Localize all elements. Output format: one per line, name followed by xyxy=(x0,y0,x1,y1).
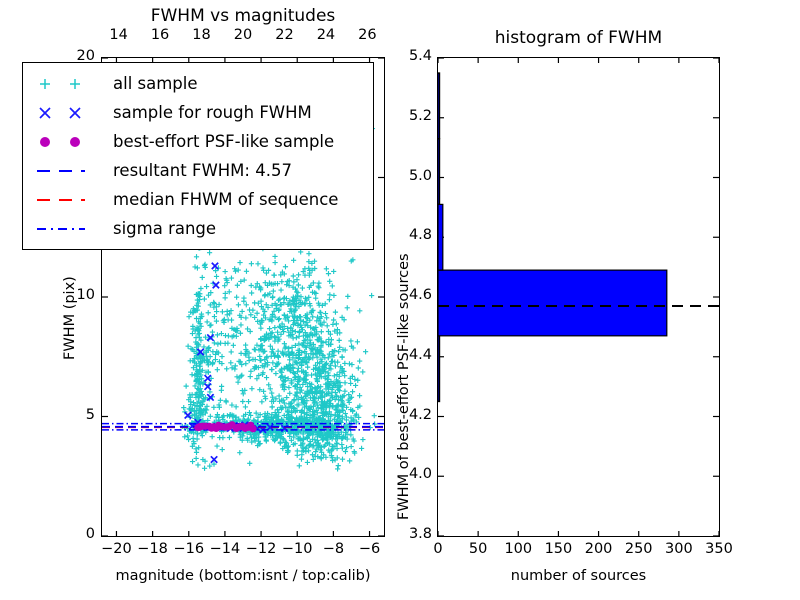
axis-tick-label: 4.2 xyxy=(396,407,432,423)
axis-tick-label: 4.8 xyxy=(396,227,432,243)
axis-tick-label: 5 xyxy=(62,407,95,423)
legend-label: resultant FWHM: 4.57 xyxy=(113,161,292,180)
axis-tick-label: −6 xyxy=(353,541,387,557)
right-panel-title: histogram of FWHM xyxy=(437,28,720,48)
left-panel-title: FWHM vs magnitudes xyxy=(101,6,385,26)
histogram-bar xyxy=(438,336,440,402)
axis-tick-label: −8 xyxy=(316,541,350,557)
legend-label: sigma range xyxy=(113,219,216,238)
legend-marker-dashed-icon xyxy=(29,159,113,183)
legend-marker-dashdot-icon xyxy=(29,217,113,241)
left-panel-xlabel: magnitude (bottom:isnt / top:calib) xyxy=(101,568,385,584)
legend-item: sigma range xyxy=(23,214,373,243)
axis-tick-label: 5.2 xyxy=(396,108,432,124)
histogram-bar xyxy=(438,73,440,139)
histogram-axes xyxy=(437,57,720,537)
axis-tick-label: 4.0 xyxy=(396,466,432,482)
axis-tick-label: 4.4 xyxy=(396,347,432,363)
axis-tick-label: 5.0 xyxy=(396,168,432,184)
legend-marker-cross-icon xyxy=(29,101,113,125)
histogram-svg xyxy=(438,58,719,536)
legend-label: median FHWM of sequence xyxy=(113,190,338,209)
legend-item: all sample xyxy=(23,69,373,98)
axis-tick-label: 4.6 xyxy=(396,287,432,303)
legend-marker-dot-icon xyxy=(29,130,113,154)
legend-marker-dashed-icon xyxy=(29,188,113,212)
histogram-bar xyxy=(438,270,667,336)
axis-tick-label: −10 xyxy=(280,541,314,557)
axis-tick-label: 16 xyxy=(146,27,174,43)
axis-tick-label: 20 xyxy=(229,27,257,43)
axis-tick-label: 100 xyxy=(500,541,536,557)
axis-tick-label: 0 xyxy=(420,541,456,557)
axis-tick-label: 22 xyxy=(270,27,298,43)
axis-tick-label: −20 xyxy=(99,541,133,557)
legend-marker-plus-icon xyxy=(29,72,113,96)
axis-tick-label: 50 xyxy=(460,541,496,557)
axis-tick-label: 250 xyxy=(621,541,657,557)
legend-item: resultant FWHM: 4.57 xyxy=(23,156,373,185)
legend-item: median FHWM of sequence xyxy=(23,185,373,214)
axis-tick-label: 24 xyxy=(312,27,340,43)
legend-item: best-effort PSF-like sample xyxy=(23,127,373,156)
axis-tick-label: −14 xyxy=(208,541,242,557)
legend-label: all sample xyxy=(113,74,198,93)
axis-tick-label: 26 xyxy=(353,27,381,43)
histogram-bars xyxy=(438,73,667,402)
axis-tick-label: 150 xyxy=(540,541,576,557)
axis-tick-label: 14 xyxy=(105,27,133,43)
axis-tick-label: −12 xyxy=(244,541,278,557)
right-panel-xlabel: number of sources xyxy=(437,568,720,584)
axis-tick-label: 5.4 xyxy=(396,48,432,64)
axis-tick-label: −16 xyxy=(172,541,206,557)
legend-box: all samplesample for rough FWHMbest-effo… xyxy=(22,62,374,250)
axis-tick-label: 10 xyxy=(62,287,95,303)
legend-label: best-effort PSF-like sample xyxy=(113,132,334,151)
histogram-bar xyxy=(438,139,440,205)
axis-tick-label: 350 xyxy=(701,541,737,557)
axis-tick-label: 3.8 xyxy=(396,526,432,542)
axis-tick-label: −18 xyxy=(136,541,170,557)
axis-tick-label: 300 xyxy=(661,541,697,557)
legend-label: sample for rough FWHM xyxy=(113,103,312,122)
histogram-bar xyxy=(438,204,443,270)
axis-tick-label: 18 xyxy=(188,27,216,43)
legend-item: sample for rough FWHM xyxy=(23,98,373,127)
figure-canvas: FWHM vs magnitudes magnitude (bottom:isn… xyxy=(0,0,800,600)
axis-tick-label: 200 xyxy=(581,541,617,557)
axis-tick-label: 0 xyxy=(62,526,95,542)
